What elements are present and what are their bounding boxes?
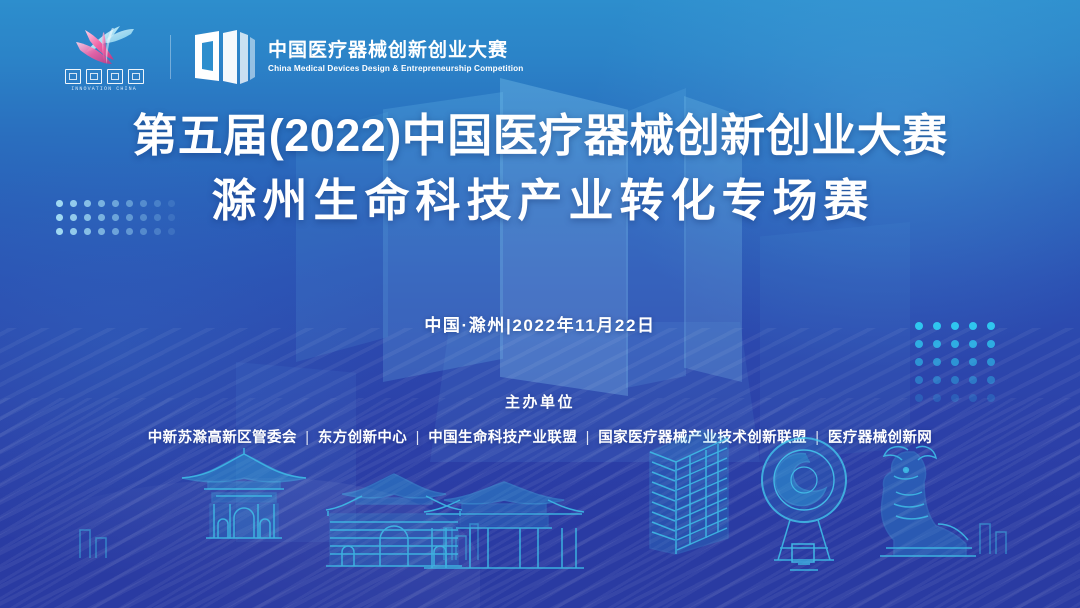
china-medical-devices-competition-logo: 中国医疗器械创新创业大赛 China Medical Devices Desig… <box>193 29 523 85</box>
innovation-china-en: INNOVATION CHINA <box>60 86 148 92</box>
open-door-logo-icon <box>193 29 255 85</box>
circular-sculpture <box>762 438 846 570</box>
host-label: 主办单位 <box>0 391 1080 412</box>
door-panel-lower-left <box>236 362 356 542</box>
decorative-dot <box>987 358 995 366</box>
innovation-china-chars <box>60 69 148 84</box>
decorative-dot <box>915 340 923 348</box>
decorative-dot <box>969 340 977 348</box>
decorative-dot <box>168 228 175 235</box>
host-list: 中新苏滁高新区管委会 | 东方创新中心 | 中国生命科技产业联盟 | 国家医疗器… <box>0 426 1080 447</box>
chinese-city-gate <box>326 474 462 566</box>
decorative-dot <box>951 340 959 348</box>
host-separator: | <box>577 430 598 446</box>
host-separator: | <box>807 430 828 446</box>
city-skyline <box>80 524 1006 560</box>
poster-titles: 第五届(2022)中国医疗器械创新创业大赛 滁州生命科技产业转化专场赛 <box>0 112 1080 225</box>
decorative-dot <box>915 376 923 384</box>
title-line-1: 第五届(2022)中国医疗器械创新创业大赛 <box>0 112 1080 159</box>
decorative-dot <box>126 228 133 235</box>
merlion-statue <box>880 446 976 556</box>
decorative-dot <box>933 358 941 366</box>
host-name: 中新苏滁高新区管委会 <box>148 430 297 446</box>
decorative-dot <box>70 228 77 235</box>
decorative-dot <box>933 376 941 384</box>
decorative-dot <box>56 228 63 235</box>
competition-logo-text: 中国医疗器械创新创业大赛 China Medical Devices Desig… <box>268 41 523 74</box>
host-name: 国家医疗器械产业技术创新联盟 <box>598 430 807 446</box>
host-name: 东方创新中心 <box>318 430 407 446</box>
diagonal-stripes <box>0 328 1080 608</box>
host-separator: | <box>297 430 318 446</box>
decorative-dot <box>987 340 995 348</box>
competition-logo-zh: 中国医疗器械创新创业大赛 <box>268 41 523 62</box>
decorative-dot <box>154 228 161 235</box>
paifang-archway <box>424 482 584 568</box>
decorative-dot <box>98 228 105 235</box>
decorative-dot <box>112 228 119 235</box>
decorative-dot <box>987 376 995 384</box>
title-line-2: 滁州生命科技产业转化专场赛 <box>0 177 1080 224</box>
decorative-dot <box>140 228 147 235</box>
logo-divider <box>170 35 171 79</box>
location-date: 中国·滁州|2022年11月22日 <box>0 311 1080 336</box>
modern-office-tower <box>650 430 728 554</box>
decorative-dot <box>951 376 959 384</box>
host-name: 中国生命科技产业联盟 <box>428 430 577 446</box>
poster-header: INNOVATION CHINA 中国医疗器械创新创业大赛 China Medi… <box>60 22 523 92</box>
host-name: 医疗器械创新网 <box>828 430 932 446</box>
innovation-china-logo: INNOVATION CHINA <box>60 22 148 92</box>
chinese-pavilion <box>182 448 306 538</box>
host-separator: | <box>407 430 428 446</box>
bird-icon <box>74 24 138 68</box>
decorative-dot <box>951 358 959 366</box>
decorative-dot <box>969 358 977 366</box>
decorative-dot <box>915 358 923 366</box>
wave-highlight <box>0 478 480 608</box>
decorative-dot <box>933 340 941 348</box>
decorative-dot <box>969 376 977 384</box>
competition-logo-en: China Medical Devices Design & Entrepren… <box>268 64 523 73</box>
decorative-dot <box>84 228 91 235</box>
event-poster: INNOVATION CHINA 中国医疗器械创新创业大赛 China Medi… <box>0 0 1080 608</box>
